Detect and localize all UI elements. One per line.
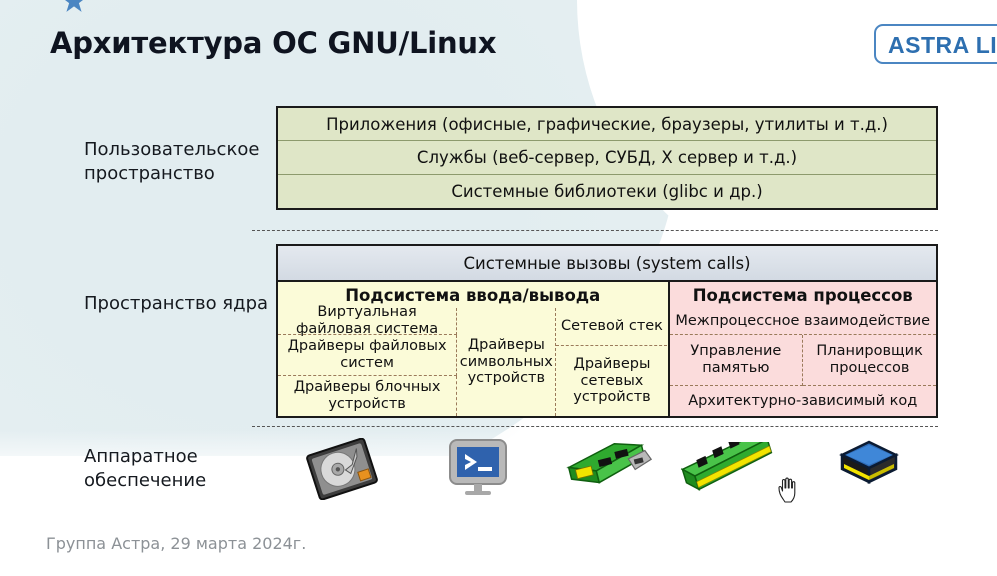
cell-architecture-dependent-code: Архитектурно-зависимый код	[670, 386, 936, 416]
io-left-column: Виртуальная файловая система Драйверы фа…	[278, 308, 457, 416]
process-subsystem: Подсистема процессов Межпроцессное взаим…	[670, 282, 936, 416]
zone-label-user-space: Пользовательское пространство	[84, 138, 269, 187]
logo-text: ASTRA LINUX	[888, 32, 997, 59]
kernel-space-block: Системные вызовы (system calls) Подсисте…	[276, 244, 938, 418]
memory-module-icon	[680, 442, 776, 494]
hardware-icons-row	[276, 432, 938, 502]
cell-process-scheduler: Планировщик процессов	[803, 335, 936, 386]
user-space-row-applications: Приложения (офисные, графические, браузе…	[278, 108, 936, 141]
cell-interprocess-communication: Межпроцессное взаимодействие	[670, 308, 936, 335]
astra-linux-logo: ASTRA LINUX	[874, 24, 997, 64]
process-subsystem-title: Подсистема процессов	[670, 282, 936, 308]
network-card-icon	[564, 440, 652, 496]
io-subsystem: Подсистема ввода/вывода Виртуальная файл…	[278, 282, 670, 416]
separator-user-kernel	[252, 230, 938, 231]
slide-canvas: Архитектура ОС GNU/Linux ASTRA LINUX Пол…	[0, 0, 997, 576]
page-title: Архитектура ОС GNU/Linux	[50, 26, 496, 60]
cell-filesystem-drivers: Драйверы файловых систем	[278, 335, 457, 376]
hard-disk-icon	[304, 438, 380, 500]
separator-kernel-hardware	[252, 426, 938, 427]
cell-memory-management: Управление памятью	[670, 335, 804, 386]
cell-char-device-drivers: Драйверы символьных устройств	[457, 308, 556, 416]
io-subsystem-grid: Виртуальная файловая система Драйверы фа…	[278, 308, 668, 416]
io-right-column: Сетевой стек Драйверы сетевых устройств	[556, 308, 667, 416]
cell-network-device-drivers: Драйверы сетевых устройств	[556, 346, 667, 416]
io-middle-column: Драйверы символьных устройств	[457, 308, 556, 416]
zone-label-hardware: Аппаратное обеспечение	[84, 445, 269, 494]
kernel-body: Подсистема ввода/вывода Виртуальная файл…	[278, 282, 936, 416]
monitor-terminal-icon	[446, 436, 510, 500]
process-subsystem-grid: Межпроцессное взаимодействие Управление …	[670, 308, 936, 416]
user-space-row-libraries: Системные библиотеки (glibc и др.)	[278, 175, 936, 208]
cpu-chip-icon	[838, 438, 900, 492]
footer-text: Группа Астра, 29 марта 2024г.	[46, 534, 306, 553]
process-middle-row: Управление памятью Планировщик процессов	[670, 335, 936, 386]
system-calls-bar: Системные вызовы (system calls)	[278, 246, 936, 282]
cell-virtual-file-system: Виртуальная файловая система	[278, 308, 457, 335]
user-space-block: Приложения (офисные, графические, браузе…	[276, 106, 938, 210]
star-icon	[61, 0, 87, 14]
cell-network-stack: Сетевой стек	[556, 308, 667, 346]
cell-block-device-drivers: Драйверы блочных устройств	[278, 376, 457, 416]
user-space-row-services: Службы (веб-сервер, СУБД, X сервер и т.д…	[278, 141, 936, 174]
zone-label-kernel-space: Пространство ядра	[84, 292, 269, 316]
hand-cursor	[777, 477, 799, 503]
